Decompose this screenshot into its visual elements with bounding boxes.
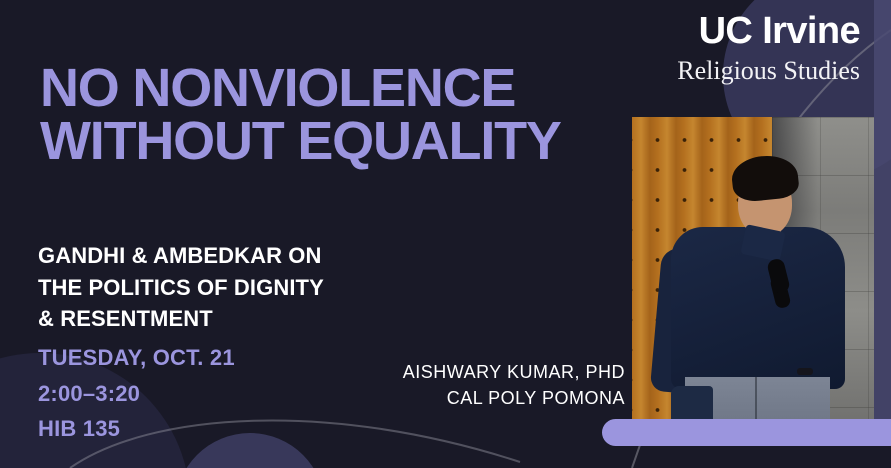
photo-person-watch bbox=[797, 368, 813, 375]
decorative-accent-bar bbox=[602, 419, 891, 446]
event-details: TUESDAY, OCT. 21 2:00–3:20 HIB 135 bbox=[38, 340, 235, 447]
speaker-block: AISHWARY KUMAR, PHD CAL POLY POMONA bbox=[330, 360, 625, 411]
event-location: HIB 135 bbox=[38, 411, 235, 447]
photo-person bbox=[632, 117, 874, 430]
speaker-name: AISHWARY KUMAR, PHD bbox=[330, 360, 625, 386]
decorative-purple-band bbox=[874, 0, 891, 430]
event-time: 2:00–3:20 bbox=[38, 376, 235, 412]
speaker-photo bbox=[632, 117, 874, 430]
subtitle-line: THE POLITICS OF DIGNITY bbox=[38, 272, 468, 304]
event-subtitle: GANDHI & AMBEDKAR ON THE POLITICS OF DIG… bbox=[38, 240, 468, 335]
brand-title: UC Irvine bbox=[677, 12, 860, 52]
brand-block: UC Irvine Religious Studies bbox=[677, 12, 860, 85]
brand-subtitle: Religious Studies bbox=[677, 57, 860, 86]
subtitle-line: & RESENTMENT bbox=[38, 303, 468, 335]
event-flyer: UC Irvine Religious Studies NO NONVIOLEN… bbox=[0, 0, 891, 468]
page-title: NO NONVIOLENCE WITHOUT EQUALITY bbox=[40, 62, 600, 169]
event-date: TUESDAY, OCT. 21 bbox=[38, 340, 235, 376]
speaker-affiliation: CAL POLY POMONA bbox=[330, 386, 625, 412]
subtitle-line: GANDHI & AMBEDKAR ON bbox=[38, 240, 468, 272]
